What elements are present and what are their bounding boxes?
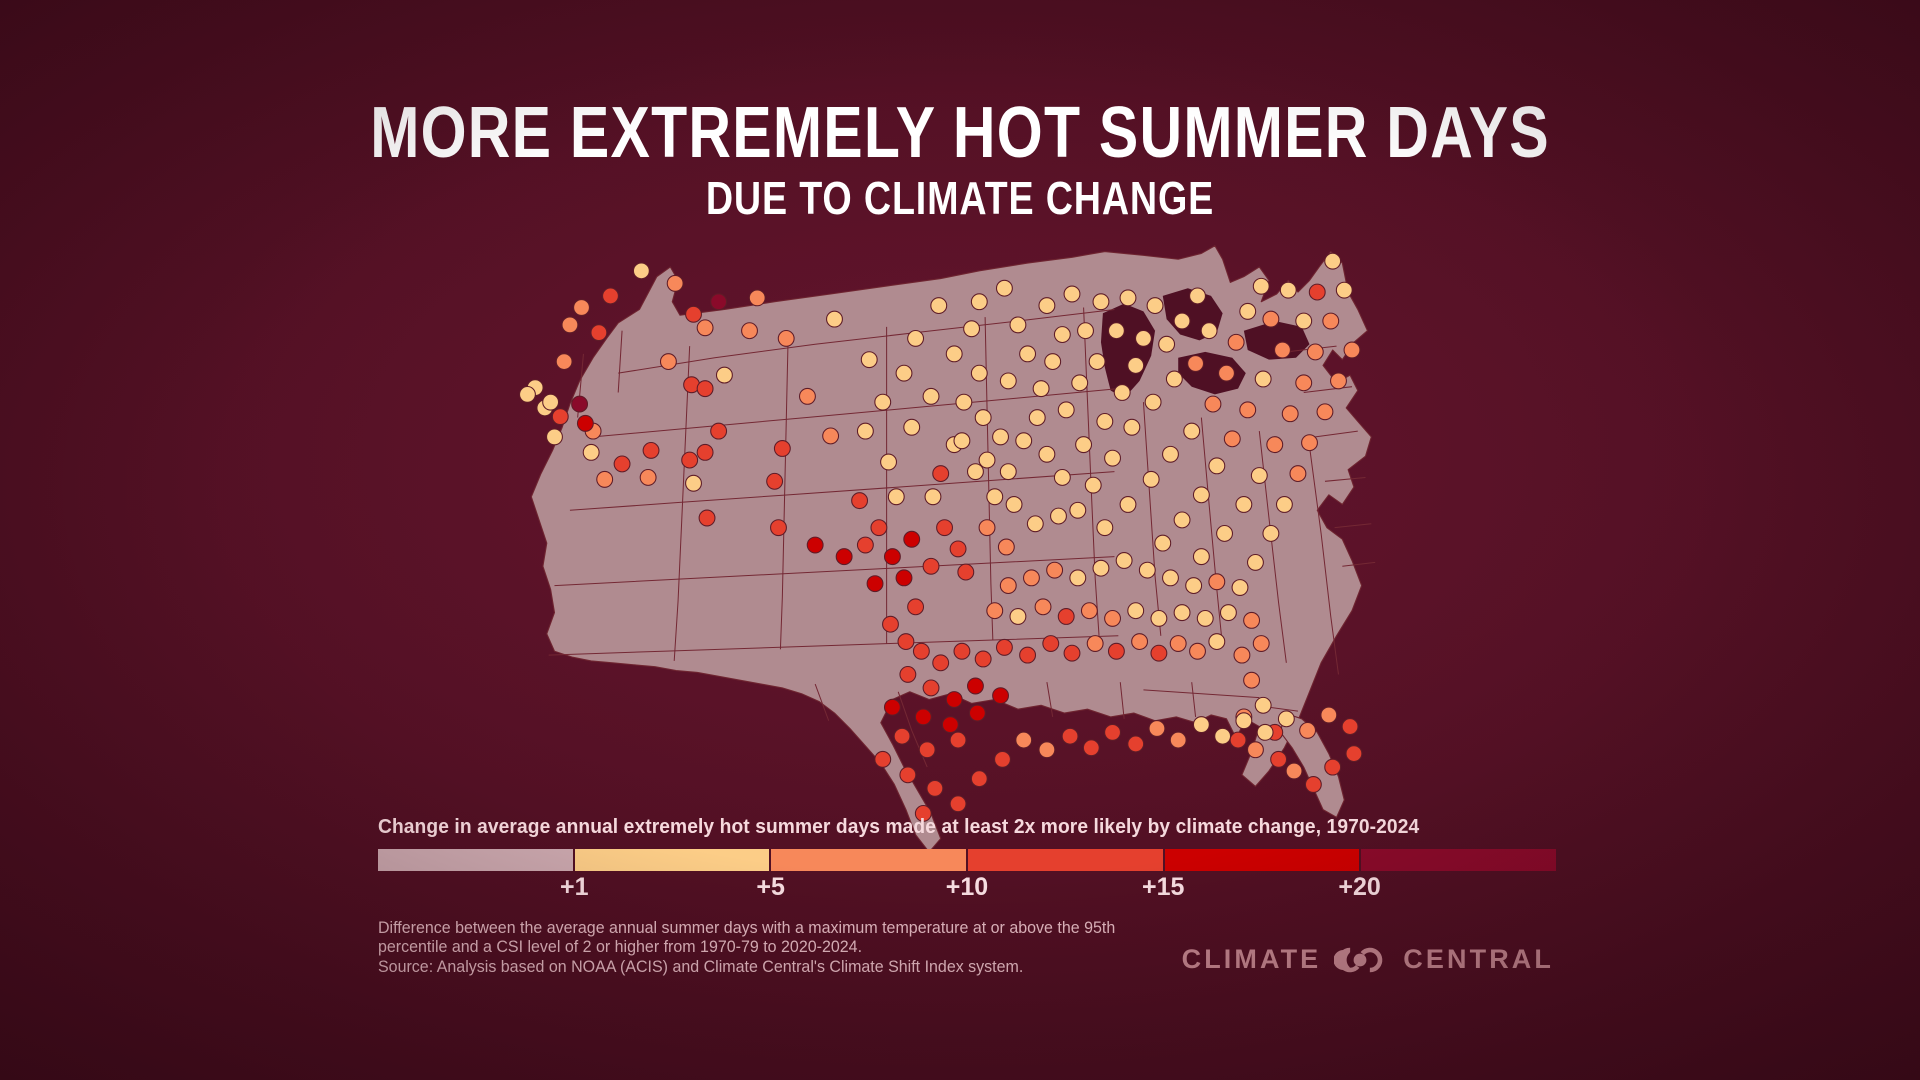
city-dot	[1120, 497, 1136, 513]
city-dot	[1215, 728, 1231, 744]
city-dot	[572, 396, 588, 412]
city-dot	[1251, 468, 1267, 484]
city-dot	[778, 330, 794, 346]
city-dot	[1275, 342, 1291, 358]
city-dot	[888, 489, 904, 505]
city-dot	[1043, 636, 1059, 652]
city-dot	[562, 317, 578, 333]
city-dot	[1321, 707, 1337, 723]
city-dot	[1105, 450, 1121, 466]
city-dot	[996, 280, 1012, 296]
city-dot	[697, 381, 713, 397]
city-dot	[1105, 610, 1121, 626]
city-dot	[875, 394, 891, 410]
city-dot	[1108, 643, 1124, 659]
city-dot	[697, 444, 713, 460]
logo-word-left: CLIMATE	[1182, 944, 1322, 975]
city-dot	[968, 464, 984, 480]
city-dot	[774, 441, 790, 457]
city-dot	[1114, 385, 1130, 401]
city-dot	[1105, 724, 1121, 740]
city-dot	[1307, 344, 1323, 360]
city-dot	[1255, 697, 1271, 713]
city-dot	[1051, 508, 1067, 524]
city-dot	[975, 651, 991, 667]
city-dot	[1174, 313, 1190, 329]
city-dot	[1143, 471, 1159, 487]
city-dot	[643, 442, 659, 458]
city-dot	[1097, 414, 1113, 430]
city-dot	[682, 452, 698, 468]
city-dot	[597, 471, 613, 487]
city-dot	[1263, 311, 1279, 327]
city-dot	[933, 466, 949, 482]
city-dot	[1209, 574, 1225, 590]
city-dot	[1078, 323, 1094, 339]
city-dot	[823, 428, 839, 444]
city-dot	[861, 352, 877, 368]
city-dot	[1255, 371, 1271, 387]
city-dot	[969, 705, 985, 721]
city-dot	[1174, 512, 1190, 528]
city-dot	[1000, 373, 1016, 389]
city-dot	[1047, 562, 1063, 578]
city-dot	[964, 321, 980, 337]
city-dot	[686, 306, 702, 322]
city-dot	[1325, 759, 1341, 775]
city-dot	[1116, 553, 1132, 569]
city-dot	[543, 394, 559, 410]
city-dot	[1184, 423, 1200, 439]
city-dot	[1190, 643, 1206, 659]
city-dot	[884, 549, 900, 565]
city-dot	[954, 643, 970, 659]
city-dot	[1128, 603, 1144, 619]
city-dot	[896, 570, 912, 586]
city-dot	[800, 388, 816, 404]
city-dot	[1296, 375, 1312, 391]
city-dot	[950, 541, 966, 557]
city-dot	[660, 354, 676, 370]
city-dot	[884, 699, 900, 715]
city-dot	[1170, 636, 1186, 652]
page-subtitle: DUE TO CLIMATE CHANGE	[173, 175, 1747, 221]
city-dot	[987, 603, 1003, 619]
legend-tick-plus15: +15	[1142, 873, 1184, 902]
city-dot	[1317, 404, 1333, 420]
legend-band-3	[771, 849, 966, 871]
city-dot	[1344, 342, 1360, 358]
city-dot	[1170, 732, 1186, 748]
city-dot	[699, 510, 715, 526]
legend-tick-plus5: +5	[756, 873, 785, 902]
footnote-line-1: Difference between the average annual su…	[378, 919, 1251, 938]
city-dot	[923, 388, 939, 404]
city-dot	[1240, 303, 1256, 319]
city-dot	[1020, 346, 1036, 362]
city-dot	[1209, 458, 1225, 474]
city-dot	[1097, 520, 1113, 536]
city-dot	[1020, 647, 1036, 663]
city-dot	[574, 300, 590, 316]
city-dot	[1278, 711, 1294, 727]
city-dot	[896, 365, 912, 381]
city-dot	[520, 386, 536, 402]
city-dot	[1000, 464, 1016, 480]
city-dot	[1087, 636, 1103, 652]
city-dot	[942, 717, 958, 733]
city-dot	[1263, 526, 1279, 542]
city-dot	[998, 539, 1014, 555]
city-dot	[1276, 497, 1292, 513]
city-dot	[1000, 578, 1016, 594]
city-dot	[1136, 330, 1152, 346]
city-dot	[1282, 406, 1298, 422]
city-dot	[1124, 419, 1140, 435]
city-dot	[904, 419, 920, 435]
city-dot	[1190, 288, 1206, 304]
legend-band-4	[968, 849, 1163, 871]
city-dot	[1224, 431, 1240, 447]
city-dot	[556, 354, 572, 370]
city-dot	[1076, 437, 1092, 453]
city-dot	[1016, 732, 1032, 748]
city-dot	[993, 429, 1009, 445]
city-dot	[1033, 381, 1049, 397]
city-dot	[857, 423, 873, 439]
city-dot	[925, 489, 941, 505]
city-dot	[1248, 742, 1264, 758]
city-dot	[1253, 636, 1269, 652]
title-block: MORE EXTREMELY HOT SUMMER DAYS DUE TO CL…	[0, 98, 1920, 221]
city-dot	[1155, 535, 1171, 551]
city-dot	[614, 456, 630, 472]
city-dot	[1093, 294, 1109, 310]
city-dot	[1151, 610, 1167, 626]
city-dot	[1064, 645, 1080, 661]
city-dot	[1236, 713, 1252, 729]
city-dot	[583, 444, 599, 460]
city-dot	[1174, 605, 1190, 621]
city-dot	[1253, 278, 1269, 294]
city-dot	[667, 275, 683, 291]
city-dot	[1217, 526, 1233, 542]
city-dot	[1244, 672, 1260, 688]
city-dot	[1010, 317, 1026, 333]
city-dot	[993, 688, 1009, 704]
city-dot	[923, 558, 939, 574]
city-dot	[1290, 466, 1306, 482]
city-dot	[1325, 253, 1341, 269]
city-dot	[968, 678, 984, 694]
city-dot	[1248, 554, 1264, 570]
city-dot	[603, 288, 619, 304]
city-dot	[552, 409, 568, 425]
city-dot	[1267, 437, 1283, 453]
city-dot	[1035, 599, 1051, 615]
city-dot	[1010, 609, 1026, 625]
city-dot	[908, 330, 924, 346]
city-dot	[919, 742, 935, 758]
city-dot	[971, 365, 987, 381]
legend-colorbar	[378, 849, 1556, 871]
city-dot	[1230, 732, 1246, 748]
city-dot	[749, 290, 765, 306]
city-dot	[697, 320, 713, 336]
city-dot	[1006, 497, 1022, 513]
city-dot	[987, 489, 1003, 505]
city-dot	[807, 537, 823, 553]
city-dot	[1089, 354, 1105, 370]
city-dot	[927, 780, 943, 796]
city-dot	[1244, 612, 1260, 628]
city-dot	[1039, 446, 1055, 462]
footnote-line-3: Source: Analysis based on NOAA (ACIS) an…	[378, 958, 1251, 977]
footnote-line-2: percentile and a CSI level of 2 or highe…	[378, 938, 1251, 957]
city-dot	[1193, 717, 1209, 733]
city-dot	[1296, 313, 1312, 329]
city-dot	[946, 692, 962, 708]
city-dot	[898, 634, 914, 650]
city-dot	[1058, 402, 1074, 418]
city-dot	[950, 732, 966, 748]
city-dot	[1209, 634, 1225, 650]
city-dot	[1220, 605, 1236, 621]
city-dot	[1085, 477, 1101, 493]
city-dot	[827, 311, 843, 327]
city-dot	[1163, 570, 1179, 586]
city-dot	[1062, 728, 1078, 744]
city-dot	[950, 796, 966, 812]
city-dot	[954, 433, 970, 449]
city-dot	[979, 520, 995, 536]
city-dot	[1132, 634, 1148, 650]
city-dot	[1149, 721, 1165, 737]
city-dot	[836, 549, 852, 565]
city-dot	[871, 520, 887, 536]
city-dot	[1139, 562, 1155, 578]
city-dot	[1081, 603, 1097, 619]
city-dot	[1083, 740, 1099, 756]
city-dot	[1309, 284, 1325, 300]
city-dot	[1120, 290, 1136, 306]
city-dot	[1305, 777, 1321, 793]
city-dot	[1302, 435, 1318, 451]
city-dot	[1039, 742, 1055, 758]
city-dot	[1236, 497, 1252, 513]
city-dot	[1286, 763, 1302, 779]
city-dot	[1201, 323, 1217, 339]
city-dot	[933, 655, 949, 671]
city-dot	[771, 520, 787, 536]
legend-band-1	[378, 849, 573, 871]
city-dot	[1205, 396, 1221, 412]
city-dot	[1228, 334, 1244, 350]
city-dot	[1151, 645, 1167, 661]
city-dot	[900, 767, 916, 783]
city-dot	[1232, 580, 1248, 596]
city-dot	[1027, 516, 1043, 532]
city-dot	[1186, 578, 1202, 594]
city-dot	[1024, 570, 1040, 586]
city-dot	[881, 454, 897, 470]
legend-band-6	[1361, 849, 1556, 871]
city-dot	[995, 751, 1011, 767]
city-dot	[1045, 354, 1061, 370]
city-dot	[923, 680, 939, 696]
city-dot	[1257, 724, 1273, 740]
legend-tick-plus20: +20	[1338, 873, 1380, 902]
city-dot	[996, 639, 1012, 655]
legend-band-2	[575, 849, 770, 871]
city-dot	[1188, 356, 1204, 372]
city-dot	[958, 564, 974, 580]
city-dot	[915, 709, 931, 725]
city-dot	[931, 298, 947, 314]
city-dot	[633, 263, 649, 279]
city-dot	[1197, 610, 1213, 626]
city-dot	[1054, 327, 1070, 343]
legend-tick-labels: +1+5+10+15+20	[378, 873, 1556, 907]
city-dot	[867, 576, 883, 592]
city-dot	[742, 323, 758, 339]
city-dot	[1108, 323, 1124, 339]
city-dot	[1331, 373, 1347, 389]
city-dot	[1070, 502, 1086, 518]
us-map	[460, 238, 1460, 798]
city-dot	[975, 410, 991, 426]
city-dot	[1159, 336, 1175, 352]
city-dot	[946, 346, 962, 362]
city-dot	[900, 666, 916, 682]
city-dot	[852, 493, 868, 509]
city-dot	[1072, 375, 1088, 391]
climate-central-logo: CLIMATE CENTRAL	[1182, 944, 1554, 975]
city-dot	[640, 470, 656, 486]
legend-band-5	[1165, 849, 1360, 871]
city-dot	[1166, 371, 1182, 387]
city-dot	[1240, 402, 1256, 418]
city-dot	[711, 423, 727, 439]
city-dot	[1234, 647, 1250, 663]
city-dot	[857, 537, 873, 553]
city-dot	[1280, 282, 1296, 298]
city-dot	[875, 751, 891, 767]
footnote: Difference between the average annual su…	[378, 919, 1251, 977]
city-dot	[1016, 433, 1032, 449]
city-dot	[1300, 722, 1316, 738]
city-dot	[883, 616, 899, 632]
city-dot	[1054, 470, 1070, 486]
city-dot	[1193, 549, 1209, 565]
city-dot	[913, 643, 929, 659]
city-dot	[894, 728, 910, 744]
legend-caption: Change in average annual extremely hot s…	[378, 816, 1509, 839]
city-dot	[956, 394, 972, 410]
city-dot	[1342, 719, 1358, 735]
city-dot	[1128, 736, 1144, 752]
city-dot	[1093, 560, 1109, 576]
page-title: MORE EXTREMELY HOT SUMMER DAYS	[173, 98, 1747, 169]
city-dot	[711, 294, 727, 310]
city-dot	[1128, 358, 1144, 374]
legend-tick-plus10: +10	[946, 873, 988, 902]
city-dot	[1219, 365, 1235, 381]
city-dot	[1323, 313, 1339, 329]
city-dot	[1029, 410, 1045, 426]
city-dot	[908, 599, 924, 615]
logo-word-right: CENTRAL	[1403, 944, 1554, 975]
city-dot	[1163, 446, 1179, 462]
city-dot	[979, 452, 995, 468]
city-dot	[547, 429, 563, 445]
city-dot	[1039, 298, 1055, 314]
city-dot	[1147, 298, 1163, 314]
city-dot	[1070, 570, 1086, 586]
city-dot	[1058, 609, 1074, 625]
legend: Change in average annual extremely hot s…	[378, 816, 1556, 907]
city-dot	[1145, 394, 1161, 410]
city-dot	[1064, 286, 1080, 302]
city-dot	[591, 325, 607, 341]
city-dot	[971, 294, 987, 310]
city-dot	[577, 415, 593, 431]
city-dot	[1271, 751, 1287, 767]
interlocking-circles-icon	[1334, 946, 1390, 974]
city-dot	[971, 771, 987, 787]
legend-tick-plus1: +1	[560, 873, 589, 902]
city-dot	[686, 475, 702, 491]
city-dot	[767, 473, 783, 489]
city-dot	[904, 531, 920, 547]
city-dot	[937, 520, 953, 536]
city-dot	[1336, 282, 1352, 298]
city-dot	[1346, 746, 1362, 762]
city-dot	[716, 367, 732, 383]
city-dot	[1193, 487, 1209, 503]
